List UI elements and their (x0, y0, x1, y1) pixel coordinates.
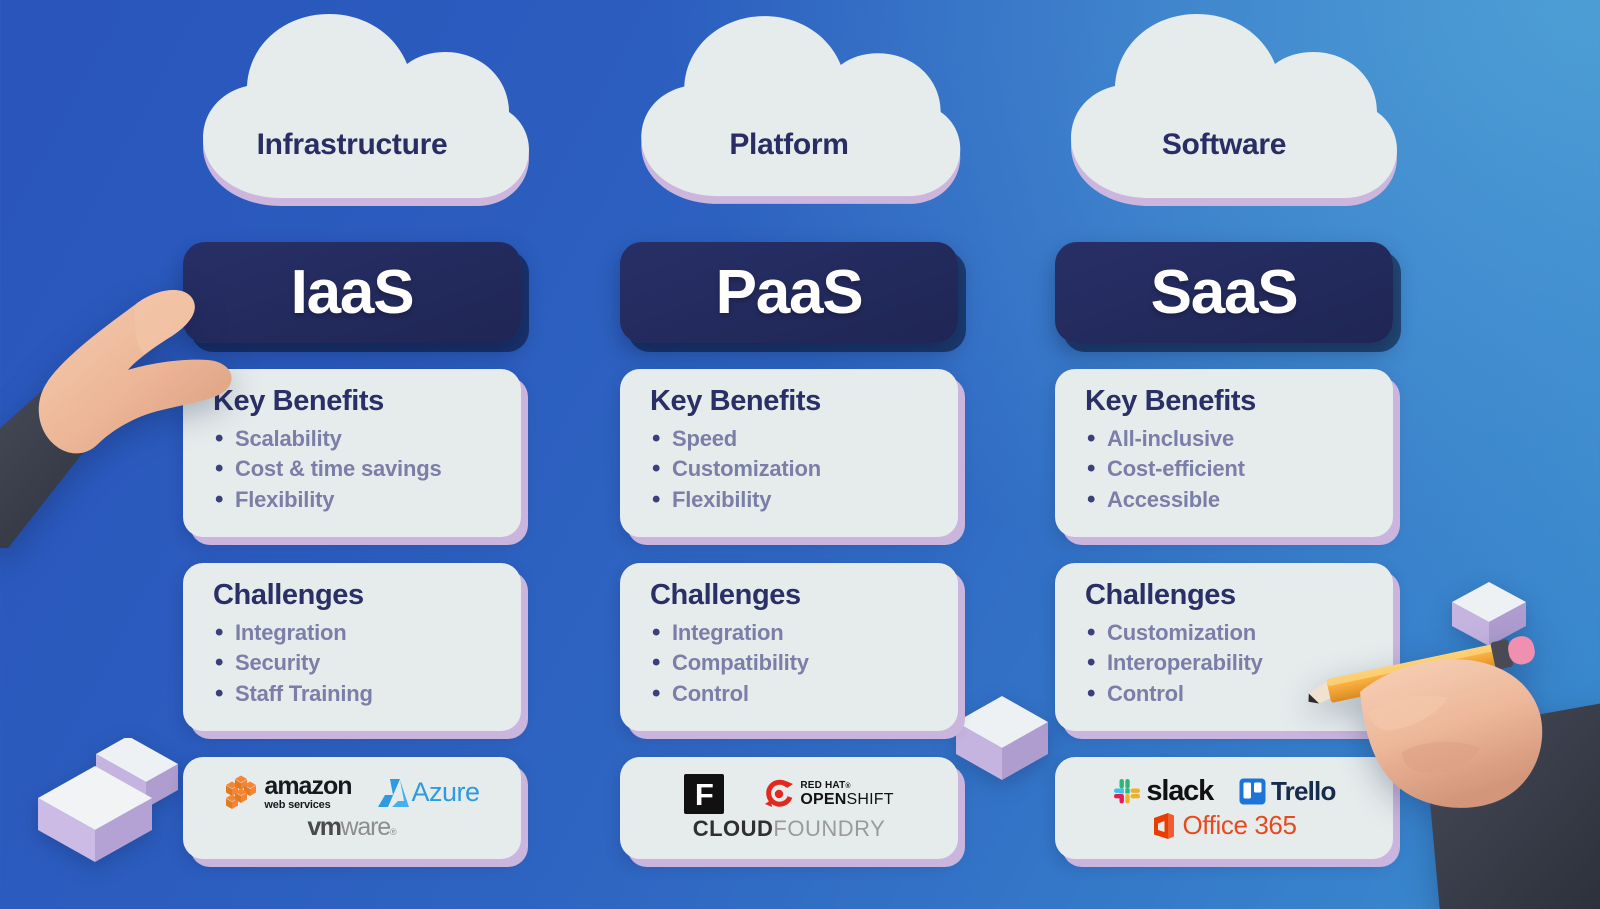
list-item: Flexibility (213, 485, 501, 515)
list-item: Compatibility (650, 648, 938, 678)
card-benefits-saas: Key Benefits All-inclusive Cost-efficien… (1055, 369, 1393, 537)
challenges-title-paas: Challenges (650, 579, 938, 612)
vmware-logo: vm ware ® (307, 813, 396, 842)
banner-paas[interactable]: PaaS (620, 242, 958, 343)
logo-row-bottom: Office 365 (1151, 810, 1296, 841)
infographic-board: Infrastructure IaaS Key Benefits Scalabi… (0, 0, 1600, 909)
list-item: Security (213, 648, 501, 678)
redhat-openshift-logo: RED HAT® OPENSHIFT (762, 778, 893, 810)
office365-logo: Office 365 (1151, 810, 1296, 841)
banner-saas[interactable]: SaaS (1055, 242, 1393, 343)
cloud-platform: Platform (620, 0, 958, 220)
list-item: Flexibility (650, 485, 938, 515)
card-logos-iaas: amazon web services Azure vm ware ® (183, 757, 521, 859)
challenges-list-iaas: Integration Security Staff Training (213, 618, 501, 709)
azure-wordmark: Azure (412, 777, 480, 808)
logo-row-top: amazon web services Azure (224, 774, 479, 811)
cloud-software: Software (1055, 0, 1393, 220)
logo-row-bottom: CLOUD FOUNDRY (693, 816, 886, 842)
column-paas: Platform PaaS Key Benefits Speed Customi… (620, 0, 958, 859)
benefits-list-iaas: Scalability Cost & time savings Flexibil… (213, 424, 501, 515)
cloud-label-platform: Platform (620, 128, 958, 162)
banner-label-paas: PaaS (716, 262, 863, 324)
slack-wordmark: slack (1146, 775, 1213, 808)
benefits-list-saas: All-inclusive Cost-efficient Accessible (1085, 424, 1373, 515)
list-item: Cost & time savings (213, 454, 501, 484)
azure-triangle-icon (376, 777, 412, 809)
list-item: All-inclusive (1085, 424, 1373, 454)
redhat-label: RED HAT (800, 780, 845, 791)
openshift-wordmark: OPENSHIFT (800, 792, 893, 808)
list-item: Integration (213, 618, 501, 648)
openshift-bold: OPEN (800, 791, 846, 808)
list-item: Integration (650, 618, 938, 648)
benefits-title-paas: Key Benefits (650, 385, 938, 418)
aws-cubes-icon (224, 775, 262, 811)
benefits-title-saas: Key Benefits (1085, 385, 1373, 418)
cloud-label-software: Software (1055, 128, 1393, 162)
list-item: Customization (650, 454, 938, 484)
benefits-list-paas: Speed Customization Flexibility (650, 424, 938, 515)
challenges-title-iaas: Challenges (213, 579, 501, 612)
vmware-trademark: ® (390, 827, 397, 837)
list-item: Cost-efficient (1085, 454, 1373, 484)
aws-logo: amazon web services (224, 774, 351, 811)
flynn-f-letter: F (695, 779, 714, 810)
card-challenges-iaas: Challenges Integration Security Staff Tr… (183, 563, 521, 731)
redhat-top-wordmark: RED HAT® (800, 781, 893, 791)
benefits-title-iaas: Key Benefits (213, 385, 501, 418)
redhat-trademark: ® (845, 783, 850, 790)
flynn-f-logo: F (684, 774, 724, 814)
list-item: Scalability (213, 424, 501, 454)
openshift-light: SHIFT (846, 791, 893, 808)
card-challenges-paas: Challenges Integration Compatibility Con… (620, 563, 958, 731)
iso-cube-pair-bottom-left (28, 738, 178, 866)
vmware-wordmark-bold: vm (307, 813, 340, 842)
aws-sub-wordmark: web services (264, 800, 351, 811)
cloudfoundry-light: FOUNDRY (773, 816, 885, 842)
pointing-hand-3d (0, 218, 236, 553)
list-item: Staff Training (213, 679, 501, 709)
slack-hash-icon (1112, 777, 1142, 807)
aws-wordmark: amazon (264, 774, 351, 799)
cloudfoundry-bold: CLOUD (693, 816, 774, 842)
trello-board-icon (1239, 778, 1266, 805)
office-door-icon (1151, 811, 1177, 841)
challenges-list-paas: Integration Compatibility Control (650, 618, 938, 709)
vmware-wordmark-light: ware (341, 813, 390, 842)
office365-wordmark: Office 365 (1182, 810, 1296, 841)
banner-label-saas: SaaS (1151, 262, 1298, 324)
cloud-infrastructure: Infrastructure (183, 0, 521, 220)
azure-logo: Azure (376, 777, 480, 809)
card-benefits-paas: Key Benefits Speed Customization Flexibi… (620, 369, 958, 537)
cloud-foundry-logo: CLOUD FOUNDRY (693, 816, 886, 842)
card-logos-paas: F RED HAT® OPENSH (620, 757, 958, 859)
banner-label-iaas: IaaS (291, 262, 414, 324)
openshift-ring-icon (762, 778, 796, 810)
logo-row-bottom: vm ware ® (307, 813, 396, 842)
slack-logo: slack (1112, 775, 1213, 808)
iso-cube-bottom-middle (952, 694, 1052, 786)
list-item: Control (650, 679, 938, 709)
logo-row-top: F RED HAT® OPENSH (684, 774, 893, 814)
list-item: Speed (650, 424, 938, 454)
list-item: Accessible (1085, 485, 1373, 515)
cloud-label-infrastructure: Infrastructure (183, 128, 521, 162)
hand-holding-pencil-3d (1290, 582, 1600, 909)
